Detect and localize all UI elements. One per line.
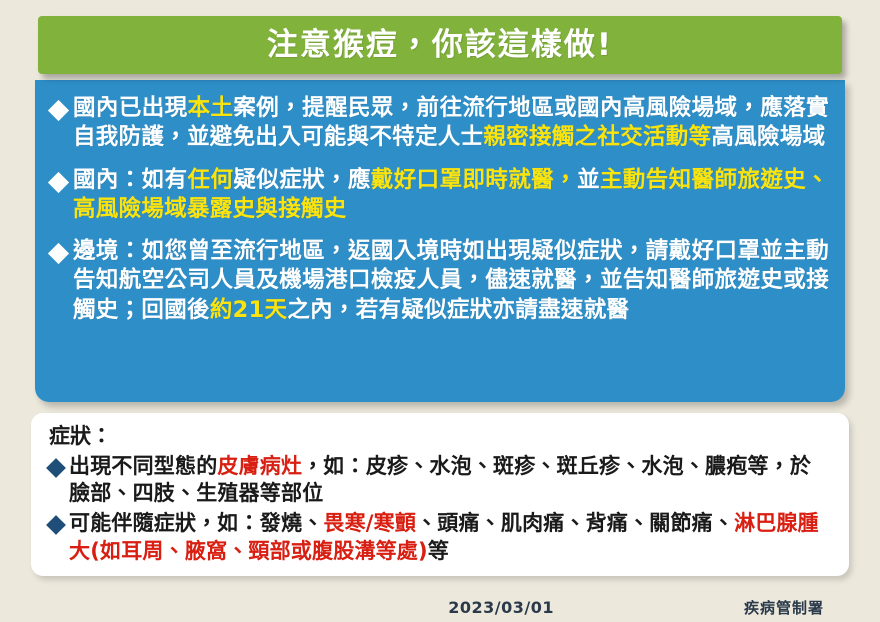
text-run-black: 出現不同型態的 <box>69 454 217 478</box>
symptoms-heading: 症狀： <box>49 424 831 450</box>
symptom-text: 可能伴隨症狀，如：發燒、畏寒/寒顫、頭痛、肌肉痛、背痛、關節痛、淋巴腺腫大(如耳… <box>69 510 831 565</box>
text-run-white: 並 <box>577 167 600 193</box>
poster-root: 注意猴痘，你該這樣做! 國內已出現本土案例，提醒民眾，前往流行地區或國內高風險場… <box>0 0 880 622</box>
symptom-text: 出現不同型態的皮膚病灶，如：皮疹、水泡、斑疹、斑丘疹、水泡、膿疱等，於臉部、四肢… <box>69 453 831 508</box>
advisory-text: 國內已出現本土案例，提醒民眾，前往流行地區或國內高風險場域，應落實自我防護，並避… <box>73 94 829 153</box>
advisory-item-domestic-cases: 國內已出現本土案例，提醒民眾，前往流行地區或國內高風險場域，應落實自我防護，並避… <box>51 94 829 153</box>
publish-date: 2023/03/01 <box>448 598 554 617</box>
text-run-yellow: 本土 <box>188 95 234 121</box>
text-run-white: 國內已出現 <box>73 95 188 121</box>
symptom-item-skin-lesions: 出現不同型態的皮膚病灶，如：皮疹、水泡、斑疹、斑丘疹、水泡、膿疱等，於臉部、四肢… <box>49 453 831 508</box>
text-run-yellow: 親密接觸之社交活動等 <box>483 124 711 150</box>
text-run-white: 高風險場域 <box>711 124 825 150</box>
symptom-item-accompanying: 可能伴隨症狀，如：發燒、畏寒/寒顫、頭痛、肌肉痛、背痛、關節痛、淋巴腺腫大(如耳… <box>49 510 831 565</box>
text-run-white: 之內，若有疑似症狀亦請盡速就醫 <box>287 297 629 323</box>
diamond-icon <box>46 458 66 478</box>
text-run-red: 皮膚病灶 <box>217 454 302 478</box>
diamond-icon <box>48 243 69 264</box>
text-run-yellow: 任何 <box>188 167 234 193</box>
advisory-text: 國內：如有任何疑似症狀，應戴好口罩即時就醫，並主動告知醫師旅遊史、高風險場域暴露… <box>73 166 829 225</box>
symptoms-card: 症狀： 出現不同型態的皮膚病灶，如：皮疹、水泡、斑疹、斑丘疹、水泡、膿疱等，於臉… <box>31 413 849 576</box>
footer: 2023/03/01 疾病管制署 <box>0 596 880 618</box>
text-run-yellow: 約21天 <box>210 297 288 323</box>
title-banner: 注意猴痘，你該這樣做! <box>38 16 842 74</box>
text-run-black: 可能伴隨症狀，如：發燒、 <box>69 511 323 535</box>
text-run-yellow: 戴好口罩即時就醫， <box>371 167 577 193</box>
advisory-text: 邊境：如您曾至流行地區，返國入境時如出現疑似症狀，請戴好口罩並主動告知航空公司人… <box>73 237 829 325</box>
text-run-black: 、頭痛、肌肉痛、背痛、關節痛、 <box>416 511 734 535</box>
text-run-white: 國內：如有 <box>73 167 188 193</box>
advisory-panel: 國內已出現本土案例，提醒民眾，前往流行地區或國內高風險場域，應落實自我防護，並避… <box>35 80 845 402</box>
diamond-icon <box>48 100 69 121</box>
text-run-black: 等 <box>428 539 449 563</box>
text-run-red: 畏寒/寒顫 <box>323 511 416 535</box>
diamond-icon <box>46 515 66 535</box>
agency-name: 疾病管制署 <box>744 597 824 618</box>
diamond-icon <box>48 171 69 192</box>
advisory-item-border-advice: 邊境：如您曾至流行地區，返國入境時如出現疑似症狀，請戴好口罩並主動告知航空公司人… <box>51 237 829 325</box>
advisory-item-domestic-advice: 國內：如有任何疑似症狀，應戴好口罩即時就醫，並主動告知醫師旅遊史、高風險場域暴露… <box>51 166 829 225</box>
page-title: 注意猴痘，你該這樣做! <box>267 30 613 61</box>
text-run-white: 疑似症狀，應 <box>233 167 370 193</box>
